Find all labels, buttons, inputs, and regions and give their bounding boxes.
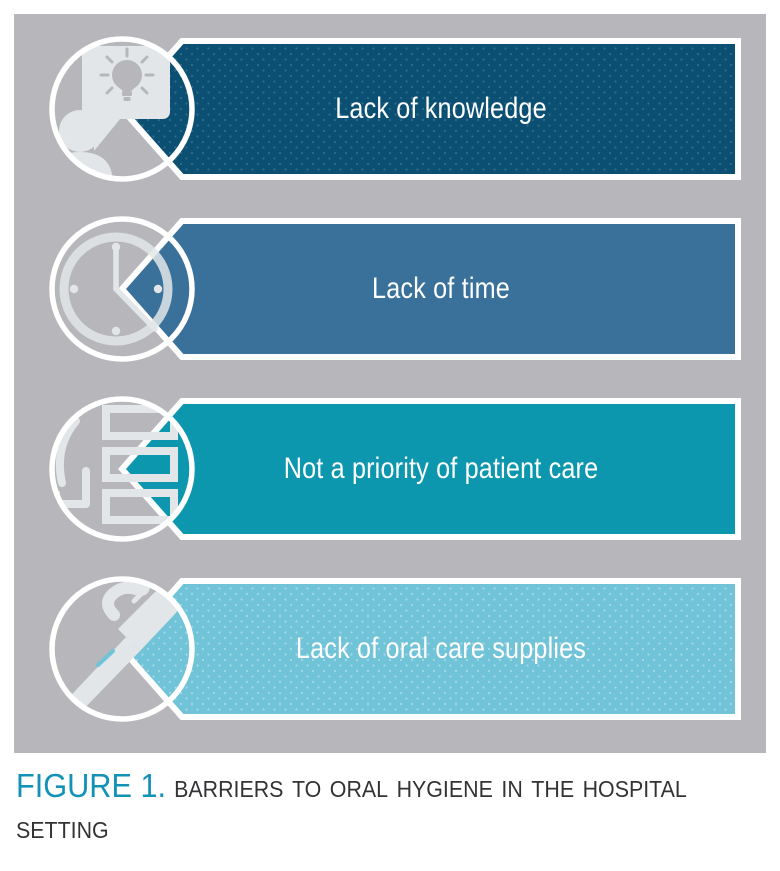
barrier-row-graphic <box>14 19 766 199</box>
barrier-bar-1 <box>122 221 738 357</box>
barrier-bar-2 <box>122 401 738 537</box>
barrier-row: Lack of time <box>14 199 766 379</box>
barrier-row: Lack of knowledge <box>14 19 766 199</box>
barrier-row-graphic <box>14 379 766 559</box>
figure-caption: FIGURE 1. Barriers to Oral Hygiene in th… <box>16 766 756 848</box>
barrier-row: Not a priority of patient care <box>14 379 766 559</box>
barrier-row-graphic <box>14 199 766 379</box>
figure-gray-panel: Lack of knowledge <box>14 14 766 753</box>
figure-number: FIGURE 1. <box>16 767 166 804</box>
barrier-row: Lack of oral care supplies <box>14 559 766 739</box>
barrier-row-graphic <box>14 559 766 739</box>
figure-container: Lack of knowledge <box>0 0 780 871</box>
